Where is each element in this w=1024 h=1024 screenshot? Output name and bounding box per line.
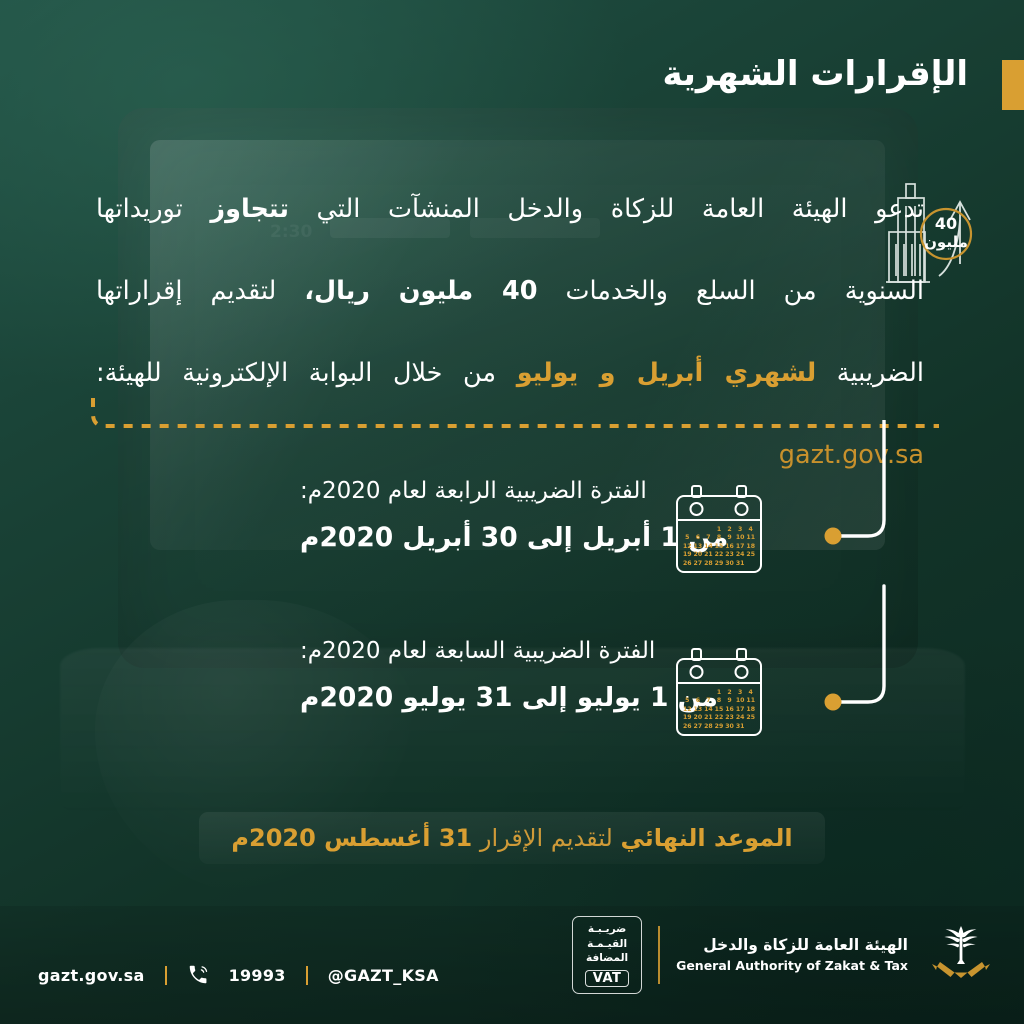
- calendar-day: 30: [724, 723, 735, 730]
- calendar-day: 21: [703, 714, 714, 721]
- calendar-icon-1: 1234567891011121314151617181920212223242…: [666, 482, 772, 578]
- calendar-day: 8: [714, 697, 725, 704]
- page-title: الإقرارات الشهرية: [663, 54, 969, 94]
- branding-divider: [658, 926, 660, 984]
- calendar-day: 20: [693, 551, 704, 558]
- vat-label-ar-2: القيـمـة: [587, 938, 627, 951]
- deadline-bold: الموعد النهائي: [620, 824, 792, 852]
- calendar-day: 31: [735, 560, 746, 567]
- p1-text-a: تدعو الهيئة العامة للزكاة والدخل المنشآت…: [289, 194, 924, 224]
- calendar-day: 15: [714, 543, 725, 550]
- badge-amount: 40: [924, 215, 968, 233]
- calendar-day: 14: [703, 543, 714, 550]
- calendar-day: 25: [745, 551, 756, 558]
- calendar-day: 5: [682, 697, 693, 704]
- calendar-day: 24: [735, 551, 746, 558]
- calendar-day: 10: [735, 697, 746, 704]
- calendar-day: 2: [724, 689, 735, 696]
- intro-paragraph: تدعو الهيئة العامة للزكاة والدخل المنشآت…: [96, 168, 924, 496]
- footer-social-handle[interactable]: @GAZT_KSA: [328, 966, 439, 985]
- calendar-day: 29: [714, 723, 725, 730]
- calendar-day: 27: [693, 723, 704, 730]
- calendar-day: 18: [745, 543, 756, 550]
- p2-bold: 40 مليون ريال،: [304, 276, 537, 306]
- calendar-day: 22: [714, 551, 725, 558]
- deadline-date: 31 أغسطس 2020م: [231, 824, 472, 852]
- calendar-day: 16: [724, 543, 735, 550]
- p3-gold: لشهري أبريل و يوليو: [517, 358, 817, 388]
- calendar-day: 14: [703, 706, 714, 713]
- calendar-day: 23: [724, 551, 735, 558]
- calendar-day: 22: [714, 714, 725, 721]
- calendar-day: 30: [724, 560, 735, 567]
- calendar-day-blank: [703, 526, 714, 533]
- calendar-day: 4: [745, 526, 756, 533]
- p3-text-a: الضريبية: [816, 358, 924, 388]
- gazt-emblem-icon: [924, 918, 998, 992]
- calendar-day: 3: [735, 689, 746, 696]
- poster-footer: gazt.gov.sa 19993 @GAZT_KSA: [0, 906, 1024, 1024]
- calendar-day: 7: [703, 534, 714, 541]
- calendar-day: 17: [735, 543, 746, 550]
- calendar-day: 29: [714, 560, 725, 567]
- calendar-day-blank: [693, 689, 704, 696]
- calendar-day: 8: [714, 534, 725, 541]
- footer-phone[interactable]: 19993: [229, 966, 286, 985]
- p2-text-a: السنوية من السلع والخدمات: [537, 276, 924, 306]
- calendar-day: 4: [745, 689, 756, 696]
- p2-text-b: لتقديم إقراراتها: [96, 276, 304, 306]
- calendar-day: 28: [703, 723, 714, 730]
- deadline-light: لتقديم الإقرار: [472, 824, 620, 852]
- calendar-day: 5: [682, 534, 693, 541]
- calendar-day: 9: [724, 534, 735, 541]
- phone-icon: [187, 964, 209, 986]
- calendar-day-blank: [682, 689, 693, 696]
- authority-name-ar: الهيئة العامة للزكاة والدخل: [703, 936, 908, 954]
- calendar-day: 12: [682, 543, 693, 550]
- footer-branding: الهيئة العامة للزكاة والدخل General Auth…: [572, 916, 998, 994]
- calendar-day: 23: [724, 714, 735, 721]
- footer-divider-2: [306, 966, 308, 985]
- calendar-day: 13: [693, 706, 704, 713]
- vat-badge: ضريـبـة القيـمـة المضافة VAT: [572, 916, 642, 994]
- calendar-day: 6: [693, 697, 704, 704]
- calendar-day-blank: [693, 526, 704, 533]
- calendar-day: 9: [724, 697, 735, 704]
- p1-text-b: توريداتها: [96, 194, 210, 224]
- footer-divider-1: [165, 966, 167, 985]
- calendar-day: 20: [693, 714, 704, 721]
- calendar-day: 24: [735, 714, 746, 721]
- paragraph-line-1: تدعو الهيئة العامة للزكاة والدخل المنشآت…: [96, 168, 924, 250]
- authority-name-en: General Authority of Zakat & Tax: [676, 958, 908, 973]
- title-accent-bar: [1002, 60, 1024, 110]
- calendar-day-blank: [682, 526, 693, 533]
- paragraph-line-2: السنوية من السلع والخدمات 40 مليون ريال،…: [96, 250, 924, 332]
- calendar-day: 25: [745, 714, 756, 721]
- footer-website[interactable]: gazt.gov.sa: [38, 966, 145, 985]
- vat-label-ar-1: ضريـبـة: [588, 923, 626, 936]
- calendar-day: 11: [745, 697, 756, 704]
- calendar-day: 28: [703, 560, 714, 567]
- vat-label-en: VAT: [585, 970, 630, 987]
- calendar-icon-2: 1234567891011121314151617181920212223242…: [666, 645, 772, 741]
- calendar-day: 18: [745, 706, 756, 713]
- calendar-days-grid-2: 1234567891011121314151617181920212223242…: [682, 689, 756, 730]
- authority-names: الهيئة العامة للزكاة والدخل General Auth…: [676, 935, 908, 975]
- calendar-day: 3: [735, 526, 746, 533]
- calendar-day: 19: [682, 551, 693, 558]
- vat-label-ar-3: المضافة: [586, 952, 628, 965]
- connector-lines: [812, 420, 922, 750]
- calendar-day: 21: [703, 551, 714, 558]
- calendar-day: 15: [714, 706, 725, 713]
- calendar-day: 31: [735, 723, 746, 730]
- deadline-banner: الموعد النهائي لتقديم الإقرار 31 أغسطس 2…: [199, 812, 825, 864]
- poster-header: الإقرارات الشهرية: [0, 50, 1024, 122]
- p3-text-b: من خلال البوابة الإلكترونية للهيئة:: [96, 358, 517, 388]
- calendar-day: 11: [745, 534, 756, 541]
- infographic-poster: 2:30 الإقرارات الشهرية: [0, 0, 1024, 1024]
- calendar-day: 16: [724, 706, 735, 713]
- calendar-day: 7: [703, 697, 714, 704]
- deadline-text: الموعد النهائي لتقديم الإقرار 31 أغسطس 2…: [231, 824, 792, 852]
- footer-contact-row: gazt.gov.sa 19993 @GAZT_KSA: [38, 964, 439, 986]
- calendar-days-grid-1: 1234567891011121314151617181920212223242…: [682, 526, 756, 567]
- calendar-day: 1: [714, 689, 725, 696]
- calendar-day: 27: [693, 560, 704, 567]
- p1-bold: تتجاوز: [210, 194, 288, 224]
- calendar-day: 19: [682, 714, 693, 721]
- calendar-day: 26: [682, 723, 693, 730]
- calendar-day: 1: [714, 526, 725, 533]
- calendar-day: 10: [735, 534, 746, 541]
- badge-unit: مليون: [924, 233, 968, 251]
- calendar-day: 17: [735, 706, 746, 713]
- calendar-day: 26: [682, 560, 693, 567]
- calendar-day-blank: [703, 689, 714, 696]
- calendar-day: 12: [682, 706, 693, 713]
- calendar-day: 2: [724, 526, 735, 533]
- calendar-day: 6: [693, 534, 704, 541]
- calendar-day: 13: [693, 543, 704, 550]
